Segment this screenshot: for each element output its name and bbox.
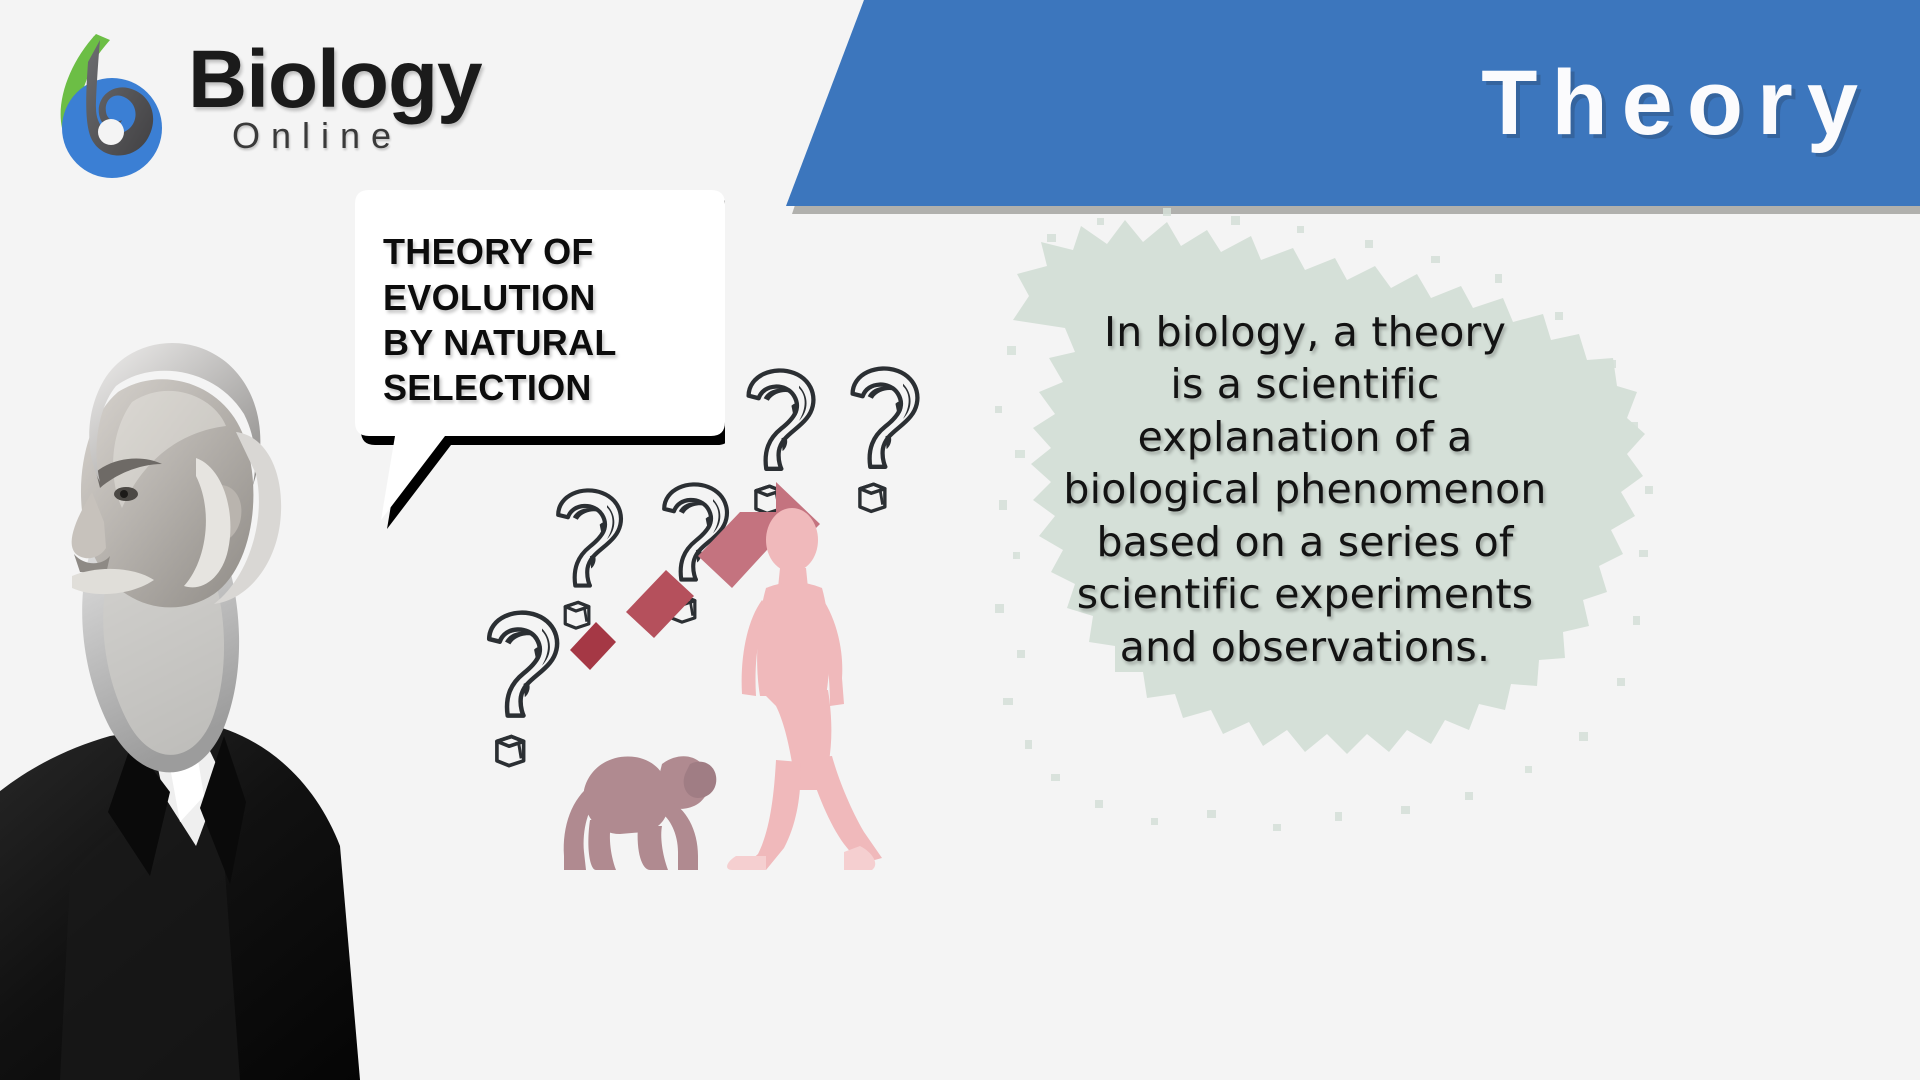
ape-figure xyxy=(564,756,717,870)
speech-bubble-text: THEORY OF EVOLUTION BY NATURAL SELECTION xyxy=(343,210,711,430)
definition-line-6: scientific experiments xyxy=(995,568,1615,620)
question-mark-5 xyxy=(853,369,918,512)
definition-line-2: is a scientific xyxy=(995,358,1615,410)
human-evolution-diagram xyxy=(440,360,960,870)
question-mark-2 xyxy=(558,490,621,628)
definition-line-7: and observations. xyxy=(995,621,1615,673)
definition-card: In biology, a theory is a scientific exp… xyxy=(955,200,1655,870)
site-logo[interactable]: Biology Online xyxy=(48,26,648,186)
definition-line-1: In biology, a theory xyxy=(995,306,1615,358)
logo-wordmark: Biology Online xyxy=(188,42,482,157)
question-mark-1 xyxy=(489,613,557,766)
bubble-line-2: EVOLUTION xyxy=(383,275,617,320)
page-title: Theory xyxy=(1481,57,1920,149)
bubble-line-3: BY NATURAL xyxy=(383,320,617,365)
logo-brand-primary: Biology xyxy=(188,42,482,117)
header-banner: Theory xyxy=(786,0,1920,206)
bubble-line-1: THEORY OF xyxy=(383,229,617,274)
definition-line-3: explanation of a xyxy=(995,411,1615,463)
definition-line-4: biological phenomenon xyxy=(995,463,1615,515)
bubble-line-4: SELECTION xyxy=(383,365,617,410)
biology-online-droplet-leaf-logo xyxy=(48,32,180,184)
definition-line-5: based on a series of xyxy=(995,516,1615,568)
definition-text: In biology, a theory is a scientific exp… xyxy=(995,306,1615,673)
infographic-canvas: Theory B xyxy=(0,0,1920,1080)
